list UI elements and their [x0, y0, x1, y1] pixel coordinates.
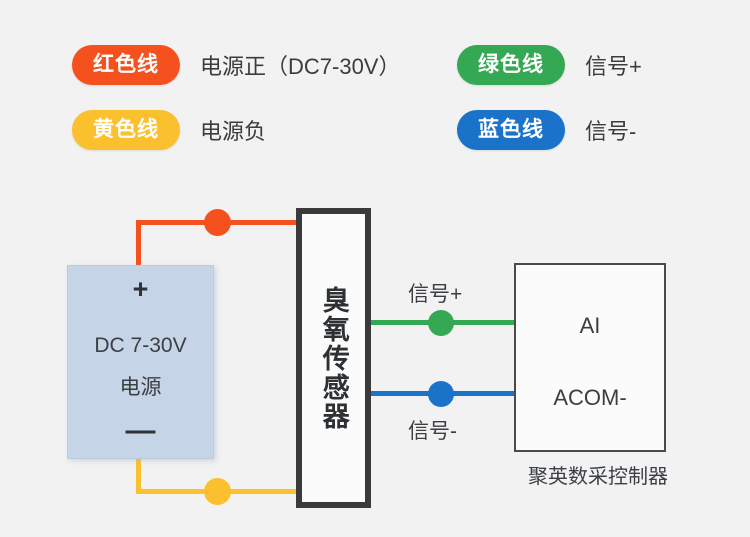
legend-pill-red: 红色线	[72, 45, 180, 85]
wire-blue-junction-dot	[428, 381, 454, 407]
power-minus-terminal: —	[68, 416, 213, 446]
wire-red-vertical	[136, 222, 141, 268]
controller-terminal-ai: AI	[516, 313, 664, 339]
power-supply-box: + DC 7-30V 电源 —	[67, 265, 214, 459]
data-acquisition-controller-box: AI ACOM-	[514, 263, 666, 452]
wire-label-signal-negative: 信号-	[408, 415, 457, 445]
ozone-sensor-label: 臭氧传感器	[318, 286, 349, 431]
power-plus-terminal: +	[68, 276, 213, 303]
legend-item-red: 红色线 电源正（DC7-30V）	[72, 45, 400, 85]
legend-desc-green: 信号+	[585, 49, 642, 81]
legend-pill-yellow: 黄色线	[72, 110, 180, 150]
controller-caption: 聚英数采控制器	[498, 460, 698, 489]
legend-pill-blue: 蓝色线	[457, 110, 565, 150]
power-voltage-label: DC 7-30V	[68, 334, 213, 358]
legend-item-blue: 蓝色线 信号-	[457, 110, 636, 150]
legend-item-green: 绿色线 信号+	[457, 45, 642, 85]
wire-green-junction-dot	[428, 310, 454, 336]
legend-item-yellow: 黄色线 电源负	[72, 110, 266, 150]
power-source-label: 电源	[68, 371, 213, 401]
legend-desc-yellow: 电源负	[200, 114, 266, 146]
legend-desc-red: 电源正（DC7-30V）	[200, 49, 400, 81]
wire-yellow-junction-dot	[204, 478, 231, 505]
wire-label-signal-positive: 信号+	[408, 278, 462, 308]
ozone-sensor-box: 臭氧传感器	[296, 208, 371, 508]
legend-desc-blue: 信号-	[585, 114, 636, 146]
controller-terminal-acom: ACOM-	[516, 385, 664, 411]
wire-red-junction-dot	[204, 209, 231, 236]
wiring-diagram-canvas: 红色线 电源正（DC7-30V） 黄色线 电源负 绿色线 信号+ 蓝色线 信号-…	[0, 0, 750, 537]
legend-pill-green: 绿色线	[457, 45, 565, 85]
